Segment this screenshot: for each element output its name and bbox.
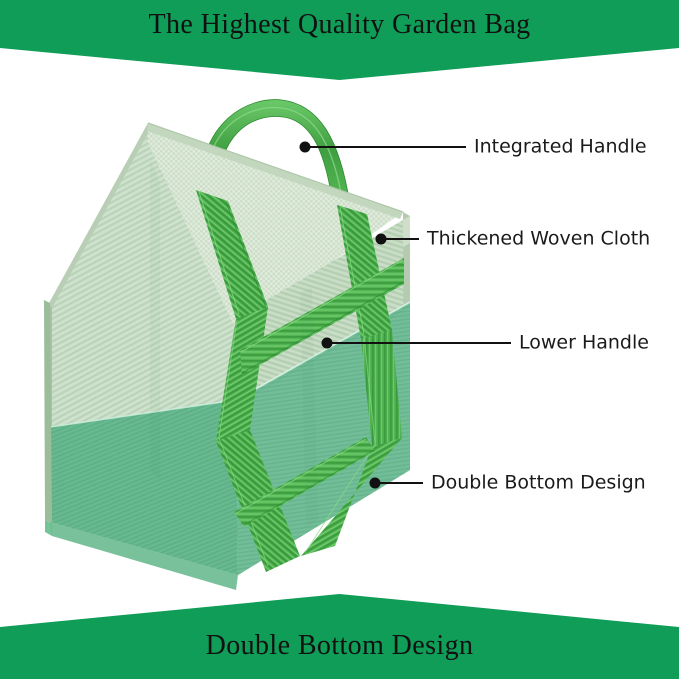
product-infographic: Integrated Handle Thickened Woven Cloth … [0, 0, 679, 679]
callout-label-lower-handle: Lower Handle [519, 334, 649, 353]
top-banner-title: The Highest Quality Garden Bag [148, 9, 530, 41]
bottom-banner-title: Double Bottom Design [206, 630, 474, 662]
callout-label-integrated-handle: Integrated Handle [474, 138, 647, 157]
callout-label-thickened-woven-cloth: Thickened Woven Cloth [427, 230, 650, 249]
callout-label-double-bottom-design: Double Bottom Design [431, 474, 646, 493]
